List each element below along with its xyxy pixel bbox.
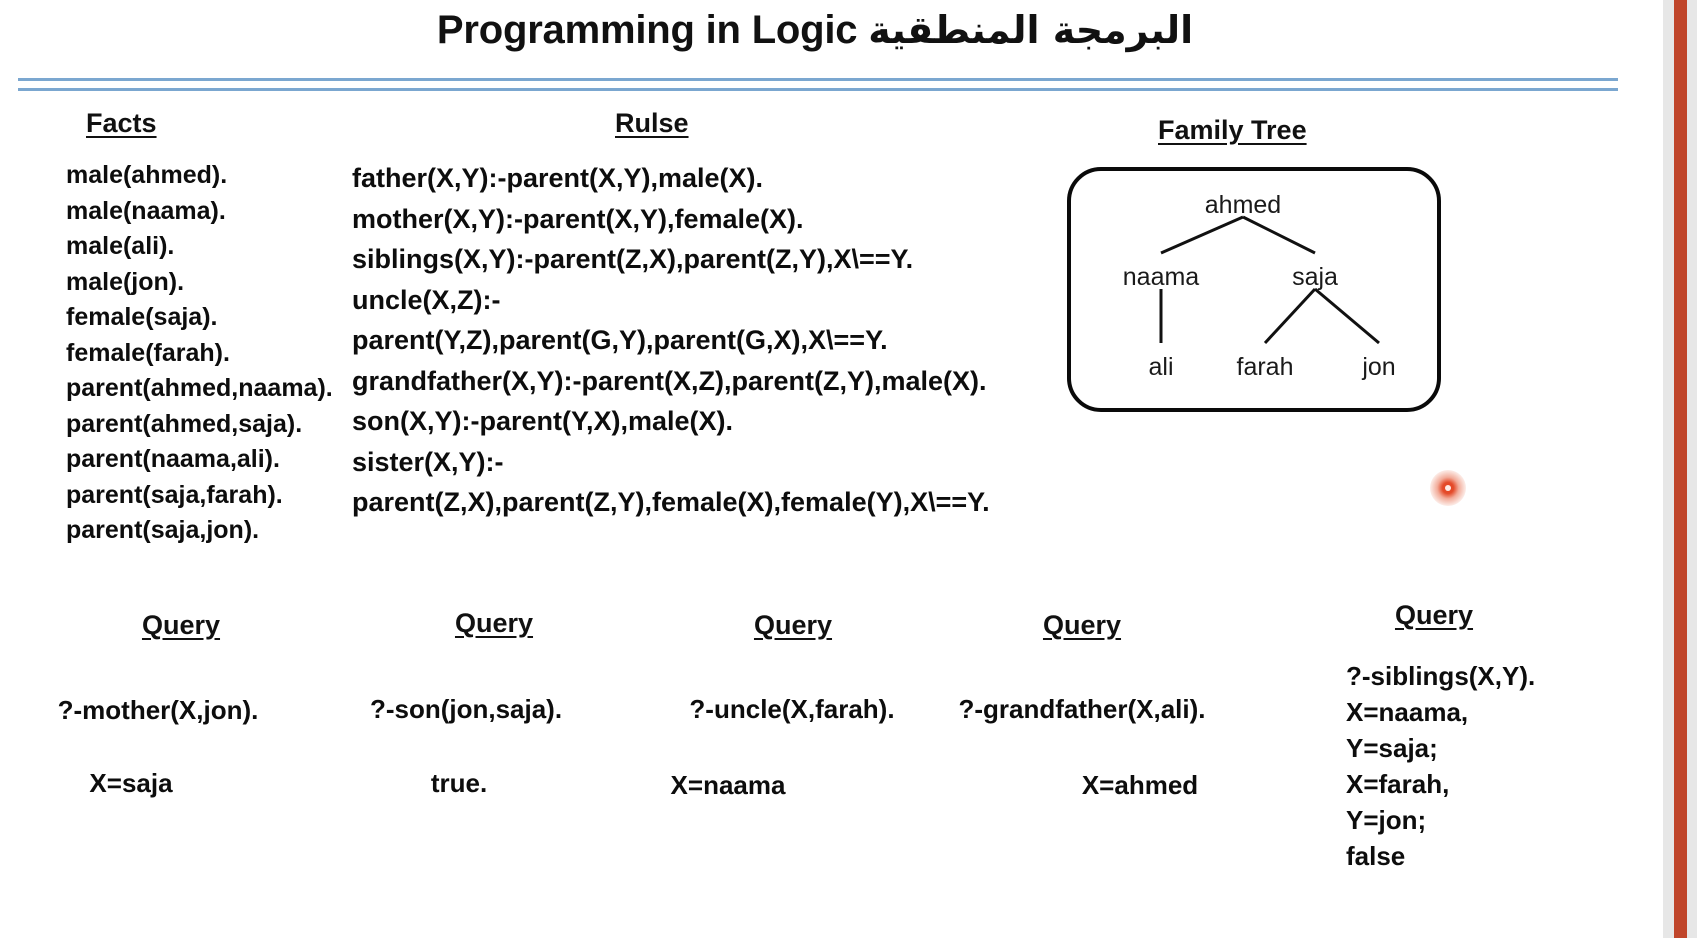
rule-line: father(X,Y):-parent(X,Y),male(X). (352, 158, 990, 199)
page-title-ar: البرمجة المنطقية (868, 8, 1193, 52)
query-text-3: ?-uncle(X,farah). (689, 694, 894, 725)
fact-line: male(jon). (66, 265, 333, 301)
tree-node-ahmed: ahmed (1205, 191, 1281, 220)
fact-line: parent(naama,ali). (66, 442, 333, 478)
tree-node-jon: jon (1362, 353, 1395, 382)
fact-line: male(ahmed). (66, 158, 333, 194)
rules-heading: Rulse (615, 108, 689, 139)
page-title-en: Programming in Logic (437, 8, 857, 52)
query-result-2: true. (431, 768, 487, 799)
rule-line: mother(X,Y):-parent(X,Y),female(X). (352, 199, 990, 240)
fact-line: parent(saja,jon). (66, 513, 333, 549)
fact-line: male(naama). (66, 194, 333, 230)
query-result-4: X=ahmed (1082, 770, 1198, 801)
tree-node-saja: saja (1292, 263, 1338, 292)
rule-line: siblings(X,Y):-parent(Z,X),parent(Z,Y),X… (352, 239, 990, 280)
rule-line: son(X,Y):-parent(Y,X),male(X). (352, 401, 990, 442)
query-heading-2: Query (455, 608, 533, 639)
divider-line-bottom (18, 88, 1618, 91)
query-text-5: ?-siblings(X,Y). (1346, 658, 1535, 694)
query-text-4: ?-grandfather(X,ali). (958, 694, 1205, 725)
fact-line: parent(ahmed,naama). (66, 371, 333, 407)
query-body-5: ?-siblings(X,Y).X=naama,Y=saja;X=farah,Y… (1346, 658, 1535, 874)
query-result-5: X=naama, (1346, 694, 1535, 730)
query-result-5: false (1346, 838, 1535, 874)
fact-line: female(farah). (66, 336, 333, 372)
title-divider (18, 78, 1618, 94)
tree-node-ali: ali (1148, 353, 1173, 382)
click-indicator-icon (1430, 470, 1466, 506)
divider-line-top (18, 78, 1618, 81)
facts-heading: Facts (86, 108, 157, 139)
query-heading-4: Query (1043, 610, 1121, 641)
query-result-1: X=saja (89, 768, 172, 799)
query-text-1: ?-mother(X,jon). (58, 695, 259, 726)
query-heading-3: Query (754, 610, 832, 641)
tree-node-naama: naama (1123, 263, 1199, 292)
query-result-5: X=farah, (1346, 766, 1535, 802)
fact-line: parent(saja,farah). (66, 478, 333, 514)
query-heading-5: Query (1395, 600, 1473, 631)
rules-list: father(X,Y):-parent(X,Y),male(X).mother(… (352, 158, 990, 523)
right-accent-bar (1674, 0, 1687, 938)
rule-line: grandfather(X,Y):-parent(X,Z),parent(Z,Y… (352, 361, 990, 402)
rule-line: parent(Z,X),parent(Z,Y),female(X),female… (352, 482, 990, 523)
query-result-3: X=naama (671, 770, 786, 801)
family-tree-heading: Family Tree (1158, 115, 1307, 146)
query-text-2: ?-son(jon,saja). (370, 694, 562, 725)
tree-node-farah: farah (1237, 353, 1294, 382)
rule-line: uncle(X,Z):- (352, 280, 990, 321)
fact-line: female(saja). (66, 300, 333, 336)
rule-line: parent(Y,Z),parent(G,Y),parent(G,X),X\==… (352, 320, 990, 361)
fact-line: parent(ahmed,saja). (66, 407, 333, 443)
query-result-5: Y=saja; (1346, 730, 1535, 766)
fact-line: male(ali). (66, 229, 333, 265)
slide-canvas: Programming in Logic البرمجة المنطقية Fa… (0, 0, 1663, 938)
rule-line: sister(X,Y):- (352, 442, 990, 483)
query-heading-1: Query (142, 610, 220, 641)
page-title: Programming in Logic البرمجة المنطقية (0, 8, 1630, 53)
facts-list: male(ahmed).male(naama).male(ali).male(j… (66, 158, 333, 549)
query-result-5: Y=jon; (1346, 802, 1535, 838)
